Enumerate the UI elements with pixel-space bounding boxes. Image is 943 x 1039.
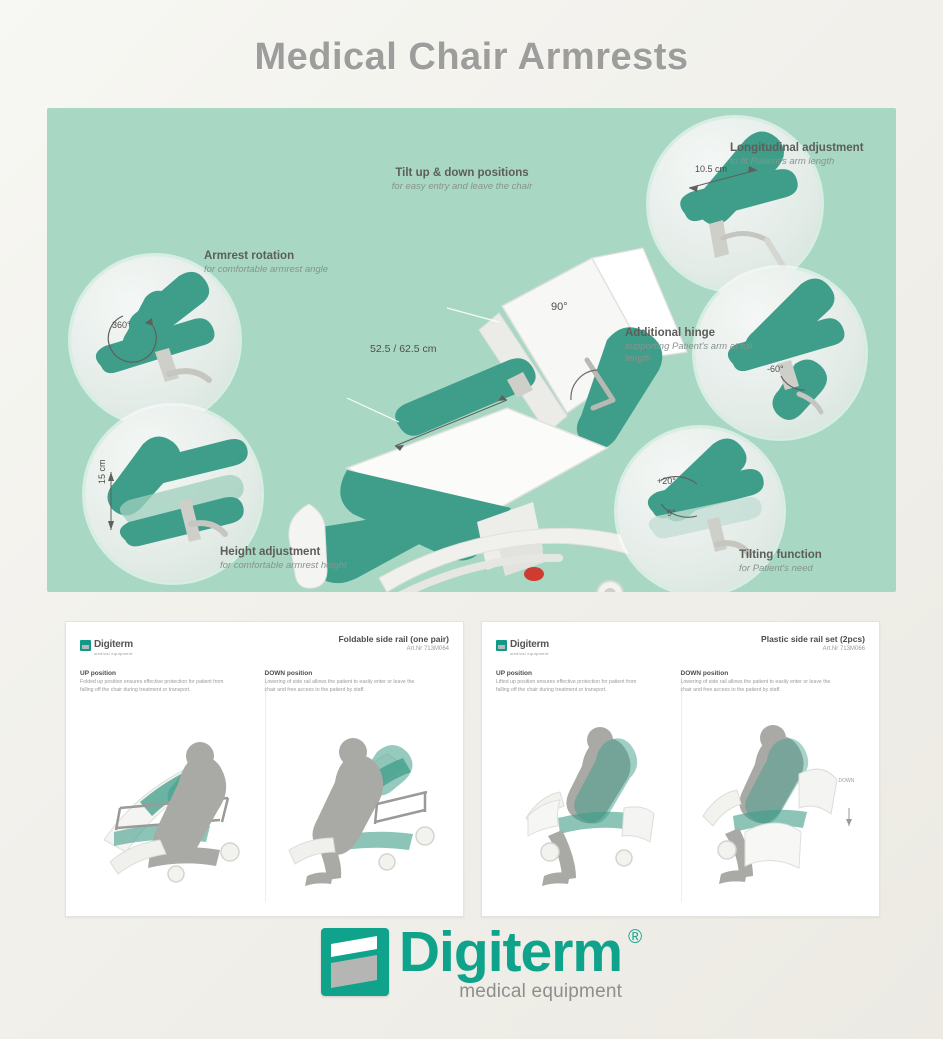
- card-body: UP position Lifted up position ensures e…: [496, 670, 865, 898]
- logo-bar-gray: [331, 955, 377, 988]
- card-title: Plastic side rail set (2pcs): [761, 634, 865, 644]
- chair-down-position-art: [265, 712, 445, 892]
- brand-name: Digiterm: [399, 925, 622, 979]
- panel-down-position: DOWN position Lowering of side rail allo…: [265, 670, 450, 898]
- panel-illustration: [80, 712, 265, 898]
- hero-panel: Tilt up & down positions for easy entry …: [47, 108, 896, 592]
- callout-rotation: Armrest rotation for comfortable armrest…: [204, 249, 374, 276]
- card-art-number: Art.Nr 713M064: [338, 646, 449, 652]
- card-logo-name: Digiterm: [510, 639, 549, 650]
- card-foldable-side-rail: Digiterm medical equipment Foldable side…: [65, 621, 464, 917]
- brand-lockup: Digiterm ® medical equipment: [321, 925, 622, 1003]
- panel-illustration: [265, 712, 450, 898]
- panel-description: Lowering of side rail allows the patient…: [265, 679, 415, 695]
- digiterm-logo-icon: [321, 928, 389, 996]
- page-title: Medical Chair Armrests: [0, 0, 943, 79]
- panel-up-position: UP position Lifted up position ensures e…: [496, 670, 681, 898]
- logo-bar-white: [331, 936, 377, 957]
- plastic-rail-down-art: [681, 712, 871, 892]
- card-logo: Digiterm medical equipment: [496, 634, 549, 656]
- card-title: Foldable side rail (one pair): [338, 634, 449, 644]
- card-logo-sub: medical equipment: [94, 651, 133, 656]
- callout-height: Height adjustment for comfortable armres…: [220, 545, 410, 572]
- callout-hinge: Additional hinge supporting Patient's ar…: [625, 326, 755, 365]
- card-logo-name: Digiterm: [94, 639, 133, 650]
- panel-label: DOWN position: [681, 670, 860, 677]
- brand-tagline: medical equipment: [399, 981, 622, 1003]
- panel-label: UP position: [496, 670, 675, 677]
- product-cards: Digiterm medical equipment Foldable side…: [65, 621, 880, 917]
- card-logo: Digiterm medical equipment: [80, 634, 133, 656]
- logo-mark-icon: [496, 640, 507, 651]
- dim-hinge: -60°: [767, 364, 784, 374]
- down-arrow-label: DOWN: [839, 778, 855, 784]
- dim-seat-length: 52.5 / 62.5 cm: [370, 343, 437, 355]
- plastic-rail-up-art: [496, 712, 676, 892]
- panel-label: UP position: [80, 670, 259, 677]
- panel-down-position: DOWN position Lowering of side rail allo…: [681, 670, 866, 898]
- dim-height: 15 cm: [97, 459, 107, 484]
- rotation-detail-art: [71, 256, 239, 424]
- card-body: UP position Folded up position ensures e…: [80, 670, 449, 898]
- dim-longitudinal: 10.5 cm: [695, 164, 727, 174]
- dim-angle-90: 90°: [551, 301, 568, 313]
- card-header: Digiterm medical equipment Foldable side…: [80, 634, 449, 656]
- card-art-number: Art.Nr 713M066: [761, 646, 865, 652]
- card-plastic-side-rail: Digiterm medical equipment Plastic side …: [481, 621, 880, 917]
- panel-description: Folded up position ensures effective pro…: [80, 679, 230, 695]
- chair-up-position-art: [80, 712, 260, 892]
- card-logo-sub: medical equipment: [510, 651, 549, 656]
- dim-rotation: 360°: [112, 320, 131, 330]
- logo-mark-icon: [80, 640, 91, 651]
- panel-description: Lifted up position ensures effective pro…: [496, 679, 646, 695]
- brand-text: Digiterm ® medical equipment: [399, 925, 622, 1003]
- bubble-rotation: 360°: [71, 256, 239, 424]
- registered-mark-icon: ®: [628, 927, 642, 949]
- callout-tilting: Tilting function for Patient's need: [739, 548, 879, 575]
- callout-longitudinal: Longitudinal adjustment to fit Patient's…: [730, 141, 895, 168]
- footer-logo: Digiterm ® medical equipment: [0, 925, 943, 1003]
- card-header: Digiterm medical equipment Plastic side …: [496, 634, 865, 656]
- panel-illustration: DOWN: [681, 712, 866, 898]
- panel-illustration: [496, 712, 681, 898]
- panel-up-position: UP position Folded up position ensures e…: [80, 670, 265, 898]
- panel-description: Lowering of side rail allows the patient…: [681, 679, 831, 695]
- callout-tilt: Tilt up & down positions for easy entry …: [347, 166, 577, 193]
- hero-illustration: Tilt up & down positions for easy entry …: [47, 108, 896, 592]
- dim-tilt-up: +20°: [657, 476, 676, 486]
- panel-label: DOWN position: [265, 670, 444, 677]
- dim-tilt-down: 9°: [667, 508, 676, 518]
